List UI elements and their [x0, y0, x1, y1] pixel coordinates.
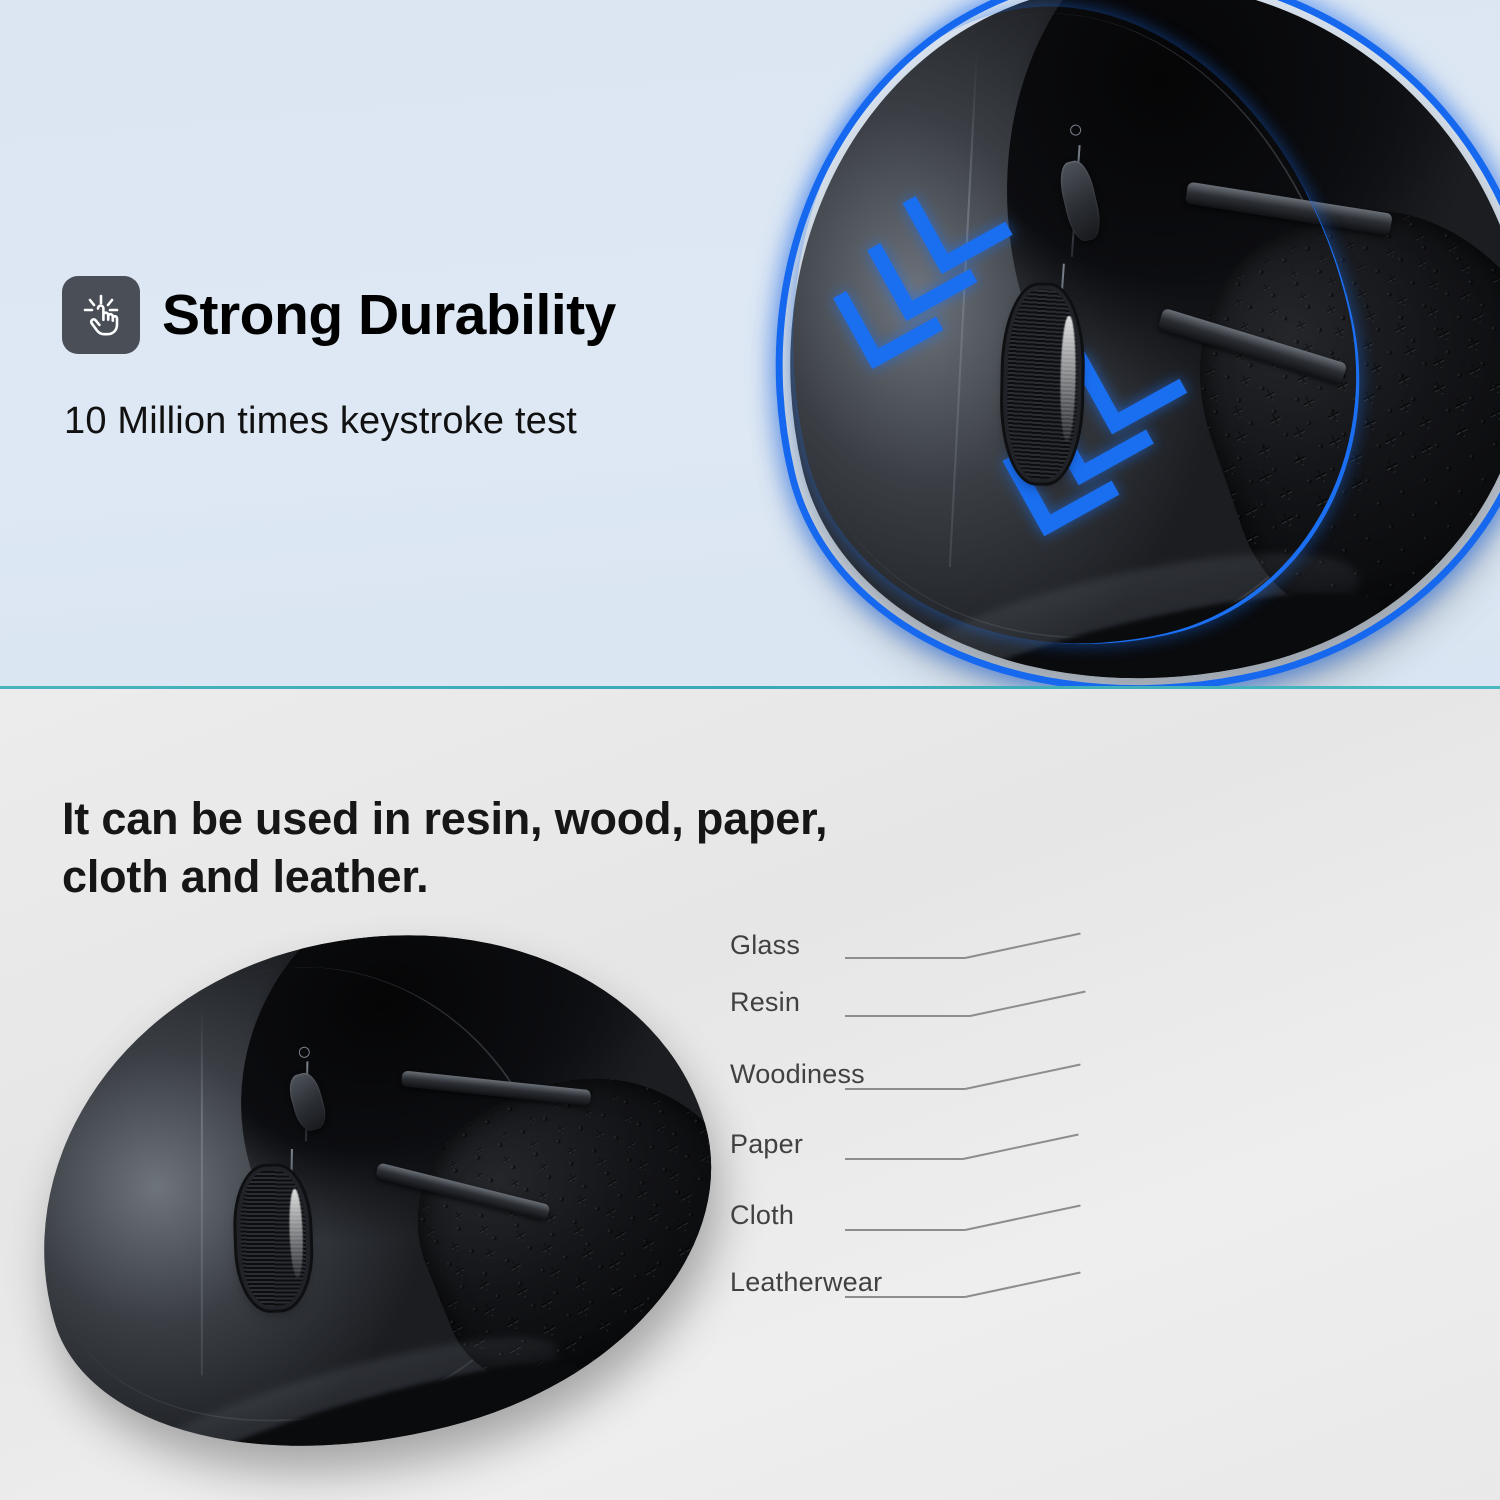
- leader-line-angled-cloth: [965, 1204, 1081, 1230]
- wireless-mouse-blue-highlight-image: + + + + + + + + + + + ++ + + + + + + + +…: [711, 0, 1500, 686]
- headline-row: Strong Durability: [62, 276, 616, 354]
- leader-line-paper: [845, 1158, 963, 1160]
- mouse-scroll-wheel: [238, 1169, 307, 1306]
- leader-line-angled-resin: [970, 990, 1086, 1016]
- leader-line-cloth: [845, 1229, 965, 1231]
- click-hand-icon: [62, 276, 140, 354]
- material-label-woodiness: Woodiness: [730, 1059, 865, 1090]
- mouse-button-split: [201, 1005, 203, 1375]
- leader-line-angled-paper: [963, 1133, 1079, 1159]
- leader-line-angled-leatherwear: [965, 1271, 1081, 1297]
- material-label-cloth: Cloth: [730, 1200, 794, 1231]
- materials-title: It can be used in resin, wood, paper, cl…: [62, 790, 827, 905]
- leader-line-resin: [845, 1015, 970, 1017]
- product-feature-infographic: + + + + + + + + + + + ++ + + + + + + + +…: [0, 0, 1500, 1500]
- materials-title-line1: It can be used in resin, wood, paper,: [62, 790, 827, 848]
- leader-line-angled-woodiness: [965, 1063, 1081, 1089]
- top-panel-durability: + + + + + + + + + + + ++ + + + + + + + +…: [0, 0, 1500, 686]
- wireless-mouse-plain-image: + + + + + + + + + + + ++ + + + + + + + +…: [0, 855, 766, 1500]
- material-label-glass: Glass: [730, 930, 800, 961]
- bottom-panel-materials: It can be used in resin, wood, paper, cl…: [0, 689, 1500, 1500]
- durability-subheading: 10 Million times keystroke test: [64, 400, 577, 443]
- exploded-material-layers: [820, 1479, 1500, 1500]
- material-label-leatherwear: Leatherwear: [730, 1267, 882, 1298]
- scroll-wheel-highlight: [288, 1188, 304, 1277]
- leader-line-woodiness: [845, 1088, 965, 1090]
- materials-title-line2: cloth and leather.: [62, 848, 827, 906]
- material-label-resin: Resin: [730, 987, 800, 1018]
- material-label-paper: Paper: [730, 1129, 803, 1160]
- leader-line-angled-glass: [965, 932, 1081, 958]
- mouse-body: + + + + + + + + + + + ++ + + + + + + + +…: [0, 855, 766, 1500]
- leader-line-glass: [845, 957, 965, 959]
- leader-line-leatherwear: [845, 1296, 965, 1298]
- page-title: Strong Durability: [162, 287, 616, 344]
